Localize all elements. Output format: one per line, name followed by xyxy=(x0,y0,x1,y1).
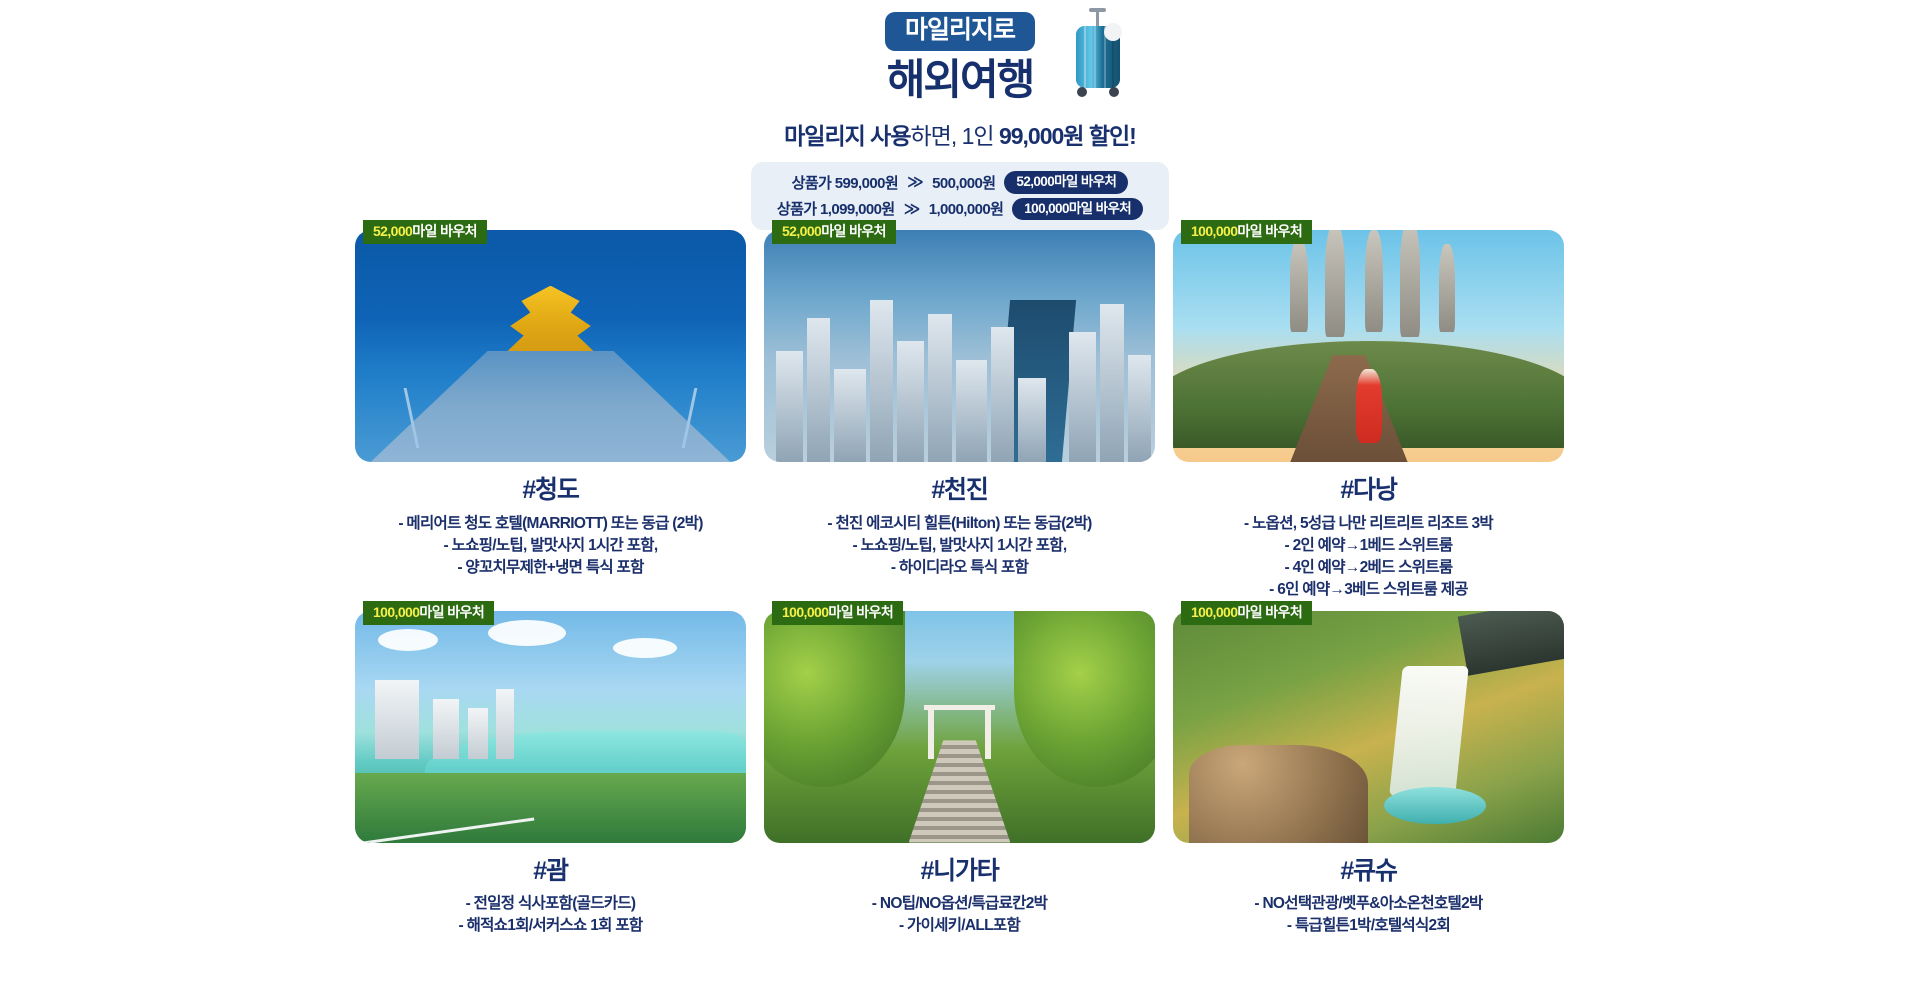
card-image[interactable] xyxy=(764,611,1155,843)
card-image[interactable] xyxy=(355,611,746,843)
destination-card[interactable]: 52,000마일 바우처 #천진 - 천진 에코시티 힐튼(Hilton) 또는… xyxy=(764,230,1155,601)
desc-line: - 4인 예약→2베드 스위트룸 xyxy=(1244,557,1493,579)
price-row: 상품가 599,000원 ≫ 500,000원 52,000마일 바우처 xyxy=(792,171,1129,194)
page-title: 해외여행 xyxy=(887,59,1034,101)
desc-line: - 하이디라오 특식 포함 xyxy=(827,557,1091,579)
card-description: - NO팁/NO옵션/특급료칸2박 - 가이세키/ALL포함 xyxy=(872,893,1047,937)
card-description: - 메리어트 청도 호텔(MARRIOTT) 또는 동급 (2박) - 노쇼핑/… xyxy=(398,513,702,579)
desc-line: - 양꼬치무제한+냉면 특식 포함 xyxy=(398,557,702,579)
desc-line: - 메리어트 청도 호텔(MARRIOTT) 또는 동급 (2박) xyxy=(398,513,702,535)
mileage-voucher-badge: 100,000마일 바우처 xyxy=(363,601,494,625)
card-title: #천진 xyxy=(931,477,987,505)
subtitle-part-1: 마일리지 사용 xyxy=(784,123,910,149)
card-title: #괌 xyxy=(533,858,568,886)
badge-amount: 100,000 xyxy=(1191,223,1237,239)
title-block: 마일리지로 해외여행 xyxy=(810,0,1110,101)
destination-card[interactable]: 100,000마일 바우처 #니가타 - NO팁/NO옵션/특급료칸2박 - 가… xyxy=(764,611,1155,938)
badge-suffix: 마일 바우처 xyxy=(419,604,484,620)
mileage-voucher-badge: 52,000마일 바우처 xyxy=(363,220,487,244)
chevron-right-icon: ≫ xyxy=(904,199,920,219)
card-image[interactable] xyxy=(1173,611,1564,843)
original-price-label: 상품가 1,099,000원 xyxy=(777,198,895,219)
desc-line: - 2인 예약→1베드 스위트룸 xyxy=(1244,535,1493,557)
card-image[interactable] xyxy=(1173,230,1564,462)
card-image[interactable] xyxy=(355,230,746,462)
destination-card[interactable]: 100,000마일 바우처 #큐슈 - NO선택관광/벳푸&아소온천호텔2박 -… xyxy=(1173,611,1564,938)
discounted-price: 500,000원 xyxy=(932,172,995,193)
card-row: 52,000마일 바우처 #청도 - 메리어트 청도 호텔(MARRIOTT) … xyxy=(355,230,1565,601)
desc-line: - 가이세키/ALL포함 xyxy=(872,915,1047,937)
subtitle-highlight: 99,000원 할인! xyxy=(999,123,1136,149)
card-description: - NO선택관광/벳푸&아소온천호텔2박 - 특급힐튼1박/호텔석식2회 xyxy=(1254,893,1482,937)
card-description: - 전일정 식사포함(골드카드) - 해적쇼1회/서커스쇼 1회 포함 xyxy=(459,893,643,937)
destination-card-grid: 52,000마일 바우처 #청도 - 메리어트 청도 호텔(MARRIOTT) … xyxy=(355,230,1565,937)
kyushu-onsen-waterfall-photo xyxy=(1173,611,1564,843)
voucher-chip: 52,000마일 바우처 xyxy=(1004,171,1128,194)
badge-amount: 52,000 xyxy=(782,223,821,239)
suitcase-icon xyxy=(1068,8,1130,100)
card-title: #큐슈 xyxy=(1340,858,1396,886)
desc-line: - 노옵션, 5성급 나만 리트리트 리조트 3박 xyxy=(1244,513,1493,535)
guam-beach-hotels-photo xyxy=(355,611,746,843)
badge-amount: 52,000 xyxy=(373,223,412,239)
desc-line: - 6인 예약→3베드 스위트룸 제공 xyxy=(1244,579,1493,601)
desc-line: - 해적쇼1회/서커스쇼 1회 포함 xyxy=(459,915,643,937)
tianjin-skyline-river-photo xyxy=(764,230,1155,462)
subtitle-part-2: 하면, 1인 xyxy=(911,123,999,149)
card-title: #니가타 xyxy=(920,858,998,886)
chevron-right-icon: ≫ xyxy=(907,172,923,192)
card-description: - 노옵션, 5성급 나만 리트리트 리조트 3박 - 2인 예약→1베드 스위… xyxy=(1244,513,1493,601)
badge-suffix: 마일 바우처 xyxy=(1237,604,1302,620)
destination-card[interactable]: 52,000마일 바우처 #청도 - 메리어트 청도 호텔(MARRIOTT) … xyxy=(355,230,746,601)
destination-card[interactable]: 100,000마일 바우처 #괌 - 전일정 식사포함(골드카드) - 해적쇼1… xyxy=(355,611,746,938)
badge-amount: 100,000 xyxy=(1191,604,1237,620)
discounted-price: 1,000,000원 xyxy=(929,198,1004,219)
badge-suffix: 마일 바우처 xyxy=(821,223,886,239)
danang-golden-bridge-photo xyxy=(1173,230,1564,462)
desc-line: - 전일정 식사포함(골드카드) xyxy=(459,893,643,915)
card-description: - 천진 에코시티 힐튼(Hilton) 또는 동급(2박) - 노쇼핑/노팁,… xyxy=(827,513,1091,579)
qingdao-night-pagoda-photo xyxy=(355,230,746,462)
voucher-chip: 100,000마일 바우처 xyxy=(1012,198,1143,221)
price-row: 상품가 1,099,000원 ≫ 1,000,000원 100,000마일 바우… xyxy=(777,198,1143,221)
promo-header: 마일리지로 해외여행 xyxy=(0,0,1920,222)
original-price-label: 상품가 599,000원 xyxy=(792,172,898,193)
card-row: 100,000마일 바우처 #괌 - 전일정 식사포함(골드카드) - 해적쇼1… xyxy=(355,611,1565,938)
badge-amount: 100,000 xyxy=(373,604,419,620)
badge-suffix: 마일 바우처 xyxy=(1237,223,1302,239)
badge-suffix: 마일 바우처 xyxy=(828,604,893,620)
header-pill-label: 마일리지로 xyxy=(885,12,1035,51)
promo-page: 마일리지로 해외여행 xyxy=(0,0,1920,996)
card-image[interactable] xyxy=(764,230,1155,462)
desc-line: - NO선택관광/벳푸&아소온천호텔2박 xyxy=(1254,893,1482,915)
desc-line: - 노쇼핑/노팁, 발맛사지 1시간 포함, xyxy=(398,535,702,557)
card-title: #청도 xyxy=(522,477,578,505)
niigata-torii-shrine-photo xyxy=(764,611,1155,843)
desc-line: - 노쇼핑/노팁, 발맛사지 1시간 포함, xyxy=(827,535,1091,557)
mileage-voucher-badge: 100,000마일 바우처 xyxy=(1181,220,1312,244)
desc-line: - 천진 에코시티 힐튼(Hilton) 또는 동급(2박) xyxy=(827,513,1091,535)
mileage-voucher-badge: 100,000마일 바우처 xyxy=(1181,601,1312,625)
mileage-voucher-badge: 52,000마일 바우처 xyxy=(772,220,896,244)
desc-line: - NO팁/NO옵션/특급료칸2박 xyxy=(872,893,1047,915)
badge-amount: 100,000 xyxy=(782,604,828,620)
desc-line: - 특급힐튼1박/호텔석식2회 xyxy=(1254,915,1482,937)
mileage-voucher-badge: 100,000마일 바우처 xyxy=(772,601,903,625)
badge-suffix: 마일 바우처 xyxy=(412,223,477,239)
subtitle: 마일리지 사용하면, 1인 99,000원 할인! xyxy=(784,117,1136,151)
destination-card[interactable]: 100,000마일 바우처 #다낭 - 노옵션, 5성급 나만 리트리트 리조트… xyxy=(1173,230,1564,601)
card-title: #다낭 xyxy=(1340,477,1396,505)
